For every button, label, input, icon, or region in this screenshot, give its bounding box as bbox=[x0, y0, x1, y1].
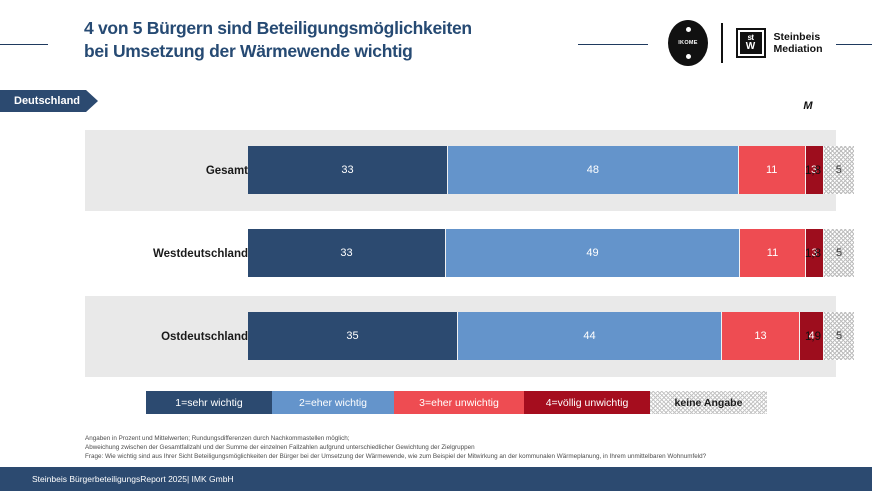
bar-segment: 33 bbox=[248, 146, 448, 194]
steinbeis-logo-w: W bbox=[746, 42, 755, 52]
region-tab-label: Deutschland bbox=[14, 95, 80, 107]
page-title-line2: bei Umsetzung der Wärmewende wichtig bbox=[84, 40, 564, 63]
bar-segment-value: 13 bbox=[754, 330, 766, 342]
steinbeis-logo-name: Steinbeis Mediation bbox=[774, 31, 823, 55]
row-category-label: Ostdeutschland bbox=[85, 331, 248, 343]
bar-segment: 33 bbox=[248, 229, 446, 277]
legend-item-label: 1=sehr wichtig bbox=[175, 397, 242, 409]
chart-rows: Gesamt(n=1.238)334811351,8Westdeutschlan… bbox=[85, 130, 836, 377]
bar-segment: 49 bbox=[446, 229, 740, 277]
bar-segment-value: 35 bbox=[346, 330, 358, 342]
legend-item[interactable]: 1=sehr wichtig bbox=[146, 391, 272, 414]
mean-column-header: M bbox=[790, 100, 826, 112]
stacked-bar: 35441345 bbox=[248, 312, 854, 360]
bar-segment: 48 bbox=[448, 146, 739, 194]
logo-group: IKOME st W Steinbeis Mediation bbox=[668, 21, 823, 65]
bar-segment-value: 5 bbox=[836, 247, 842, 259]
bar-segment: 44 bbox=[458, 312, 722, 360]
page-title: 4 von 5 Bürgern sind Beteiligungsmöglich… bbox=[84, 17, 564, 63]
stacked-bar: 33481135 bbox=[248, 146, 854, 194]
ikome-logo-icon: IKOME bbox=[668, 20, 708, 66]
ikome-logo-label: IKOME bbox=[678, 40, 698, 46]
bar-segment-value: 5 bbox=[836, 330, 842, 342]
footer-bar: Steinbeis BürgerbeteiligungsReport 2025|… bbox=[0, 467, 872, 491]
bar-segment: 35 bbox=[248, 312, 458, 360]
legend-item-label: 2=eher wichtig bbox=[299, 397, 367, 409]
bar-segment-value: 11 bbox=[766, 164, 777, 176]
footnote-line: Angaben in Prozent und Mittelwerten; Run… bbox=[85, 434, 872, 443]
bar-segment-value: 5 bbox=[836, 164, 842, 176]
bar-segment-value: 48 bbox=[587, 164, 599, 176]
page-title-line1: 4 von 5 Bürgern sind Beteiligungsmöglich… bbox=[84, 18, 472, 38]
logo-divider bbox=[721, 23, 723, 63]
steinbeis-logo-mark: st W bbox=[740, 32, 762, 54]
legend-item[interactable]: keine Angabe bbox=[650, 391, 767, 414]
row-mean-value: 1,9 bbox=[790, 331, 836, 343]
stacked-bar: 33491135 bbox=[248, 229, 854, 277]
header-rule-middle bbox=[578, 44, 648, 45]
footer-label: Steinbeis BürgerbeteiligungsReport 2025|… bbox=[32, 474, 234, 484]
bar-segment-value: 33 bbox=[340, 247, 352, 259]
legend-item[interactable]: 4=völlig unwichtig bbox=[524, 391, 650, 414]
row-mean-value: 1,8 bbox=[790, 248, 836, 260]
legend-item[interactable]: 2=eher wichtig bbox=[272, 391, 394, 414]
footnotes: Angaben in Prozent und Mittelwerten; Run… bbox=[85, 434, 872, 462]
row-category-label: Gesamt bbox=[85, 165, 248, 177]
footnote-line: Abweichung zwischen der Gesamtfallzahl u… bbox=[85, 443, 872, 452]
legend-item[interactable]: 3=eher unwichtig bbox=[394, 391, 524, 414]
legend-item-label: 3=eher unwichtig bbox=[419, 397, 499, 409]
region-tab-deutschland[interactable]: Deutschland bbox=[0, 90, 98, 112]
bar-segment-value: 33 bbox=[341, 164, 353, 176]
ikome-dot-top-icon bbox=[686, 27, 691, 32]
ikome-dot-bottom-icon bbox=[686, 54, 691, 59]
bar-segment-value: 44 bbox=[583, 330, 595, 342]
steinbeis-logo-icon: st W bbox=[736, 28, 766, 58]
chart-legend: 1=sehr wichtig2=eher wichtig3=eher unwic… bbox=[146, 391, 767, 414]
steinbeis-name-line1: Steinbeis bbox=[774, 31, 823, 43]
steinbeis-name-line2: Mediation bbox=[774, 43, 823, 55]
legend-item-label: keine Angabe bbox=[675, 397, 743, 409]
chart-row: Gesamt(n=1.238)334811351,8 bbox=[85, 130, 836, 211]
infographic-page: 4 von 5 Bürgern sind Beteiligungsmöglich… bbox=[0, 0, 872, 491]
header-rule-left bbox=[0, 44, 48, 45]
bar-segment: 13 bbox=[722, 312, 800, 360]
bar-segment-value: 11 bbox=[767, 247, 778, 259]
row-mean-value: 1,8 bbox=[790, 165, 836, 177]
footnote-line: Frage: Wie wichtig sind aus Ihrer Sicht … bbox=[85, 452, 872, 461]
header: 4 von 5 Bürgern sind Beteiligungsmöglich… bbox=[0, 0, 872, 80]
legend-item-label: 4=völlig unwichtig bbox=[546, 397, 629, 409]
header-rule-right bbox=[836, 44, 872, 45]
chart-row: Westdeutschland(n=1.000)334911351,8 bbox=[85, 213, 836, 294]
bar-segment-value: 49 bbox=[586, 247, 598, 259]
chart-row: Ostdeutschland(n=1.000)354413451,9 bbox=[85, 296, 836, 377]
row-category-label: Westdeutschland bbox=[85, 248, 248, 260]
